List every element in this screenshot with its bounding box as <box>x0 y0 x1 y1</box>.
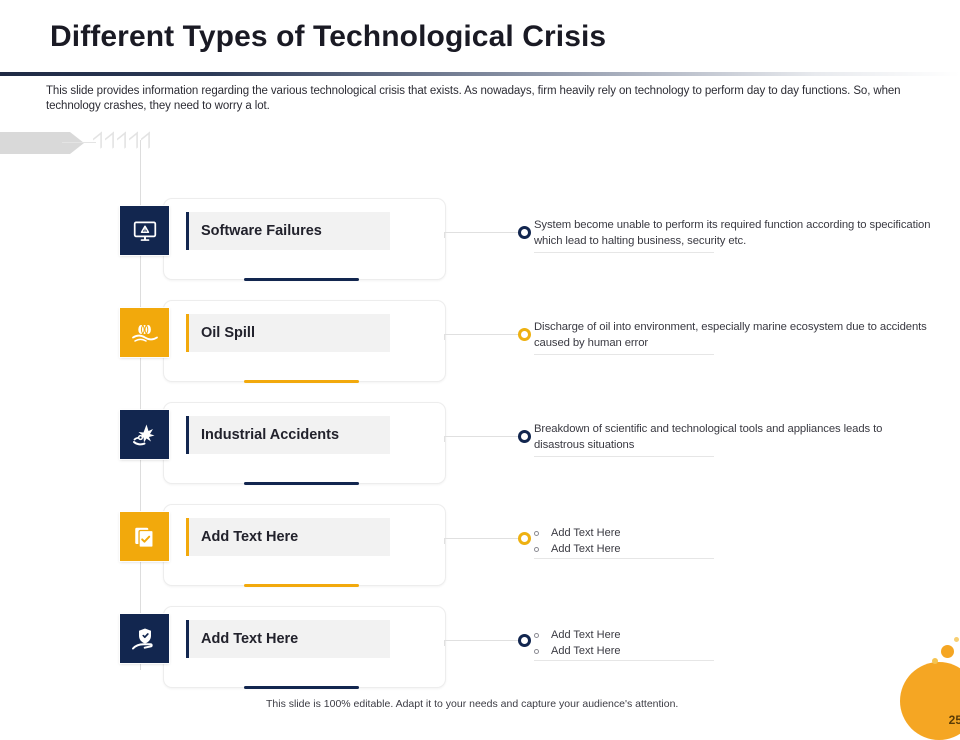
industrial-hazard-icon <box>120 410 169 459</box>
bullet-marker-icon <box>518 226 531 239</box>
chip-accent-bar <box>186 314 189 352</box>
description-underline <box>534 354 714 355</box>
card-underline <box>244 482 359 486</box>
crisis-description: System become unable to perform its requ… <box>534 218 934 249</box>
crisis-card[interactable]: Add Text Here <box>163 606 446 688</box>
list-item: Add Text Here <box>534 643 621 659</box>
list-item-label: Add Text Here <box>551 627 621 643</box>
bullet-list: Add Text HereAdd Text Here <box>534 627 621 659</box>
page-title: Different Types of Technological Crisis <box>50 20 606 54</box>
slide-subtitle: This slide provides information regardin… <box>46 84 936 114</box>
chevron-arrows-icon <box>92 133 151 153</box>
crisis-row[interactable]: Add Text HereAdd Text HereAdd Text Here <box>0 492 960 596</box>
bullet-dot-icon <box>534 649 539 654</box>
description-underline <box>534 558 714 559</box>
arrow-banner-decoration <box>0 132 70 154</box>
list-item-label: Add Text Here <box>551 643 621 659</box>
hand-shield-icon <box>120 614 169 663</box>
corner-dot-medium-icon <box>932 658 938 664</box>
card-underline <box>244 278 359 282</box>
connector-line <box>444 232 522 233</box>
crisis-card[interactable]: Industrial Accidents <box>163 402 446 484</box>
chip-accent-bar <box>186 620 189 658</box>
description-underline <box>534 252 714 253</box>
bullet-marker-icon <box>518 430 531 443</box>
chip-accent-bar <box>186 518 189 556</box>
card-underline <box>244 686 359 690</box>
page-number: 25 <box>949 713 960 727</box>
slide-canvas: Different Types of Technological Crisis … <box>0 0 960 720</box>
list-item-label: Add Text Here <box>551 541 621 557</box>
bullet-dot-icon <box>534 547 539 552</box>
crisis-label-chip: Oil Spill <box>186 314 390 352</box>
crisis-label: Software Failures <box>186 223 322 239</box>
footer-note: This slide is 100% editable. Adapt it to… <box>266 698 678 710</box>
document-check-icon <box>120 512 169 561</box>
crisis-card[interactable]: Add Text Here <box>163 504 446 586</box>
list-item: Add Text Here <box>534 541 621 557</box>
bullet-marker-icon <box>518 532 531 545</box>
crisis-label: Add Text Here <box>186 529 298 545</box>
crisis-row[interactable]: Software FailuresSystem become unable to… <box>0 186 960 290</box>
list-item-label: Add Text Here <box>551 525 621 541</box>
crisis-row[interactable]: Oil SpillDischarge of oil into environme… <box>0 288 960 392</box>
crisis-label: Industrial Accidents <box>186 427 339 443</box>
list-item: Add Text Here <box>534 627 621 643</box>
crisis-label-chip: Industrial Accidents <box>186 416 390 454</box>
crisis-row[interactable]: Add Text HereAdd Text HereAdd Text Here <box>0 594 960 698</box>
oil-barrels-icon <box>120 308 169 357</box>
description-underline <box>534 456 714 457</box>
bullet-marker-icon <box>518 634 531 647</box>
corner-dot-small-icon <box>954 637 959 642</box>
title-divider <box>0 72 960 76</box>
crisis-card[interactable]: Oil Spill <box>163 300 446 382</box>
crisis-label-chip: Add Text Here <box>186 620 390 658</box>
crisis-label-chip: Add Text Here <box>186 518 390 556</box>
crisis-label: Add Text Here <box>186 631 298 647</box>
monitor-warning-icon <box>120 206 169 255</box>
crisis-description: Breakdown of scientific and technologica… <box>534 422 934 453</box>
bullet-dot-icon <box>534 531 539 536</box>
connector-line <box>444 640 522 641</box>
bullet-dot-icon <box>534 633 539 638</box>
bullet-list: Add Text HereAdd Text Here <box>534 525 621 557</box>
corner-dot-large-icon <box>941 645 954 658</box>
card-underline <box>244 380 359 384</box>
connector-line <box>444 334 522 335</box>
banner-connector-line <box>62 142 96 143</box>
crisis-label: Oil Spill <box>186 325 255 341</box>
chip-accent-bar <box>186 416 189 454</box>
crisis-row[interactable]: Industrial AccidentsBreakdown of scienti… <box>0 390 960 494</box>
crisis-label-chip: Software Failures <box>186 212 390 250</box>
description-underline <box>534 660 714 661</box>
connector-line <box>444 436 522 437</box>
list-item: Add Text Here <box>534 525 621 541</box>
connector-line <box>444 538 522 539</box>
chip-accent-bar <box>186 212 189 250</box>
crisis-description: Discharge of oil into environment, espec… <box>534 320 934 351</box>
bullet-marker-icon <box>518 328 531 341</box>
card-underline <box>244 584 359 588</box>
crisis-card[interactable]: Software Failures <box>163 198 446 280</box>
